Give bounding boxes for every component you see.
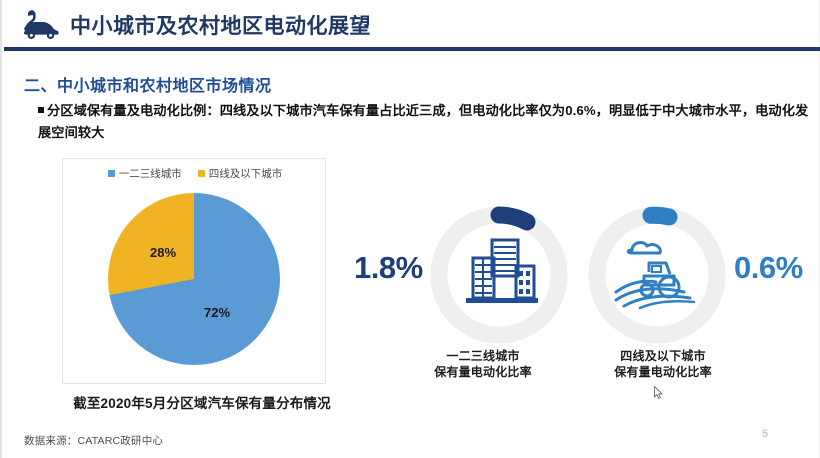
stat-caption-line2: 保有量电动化比率 bbox=[548, 364, 778, 380]
farm-tractor-icon bbox=[614, 230, 700, 314]
header-divider bbox=[4, 47, 820, 51]
pie-slices bbox=[108, 193, 280, 365]
square-bullet-icon bbox=[38, 107, 44, 113]
ev-car-charging-icon bbox=[14, 8, 62, 42]
page-title: 中小城市及农村地区电动化展望 bbox=[70, 10, 371, 40]
pie-slice-label-primary: 72% bbox=[204, 305, 230, 320]
pie-slice-label-secondary: 28% bbox=[150, 245, 176, 260]
legend-item[interactable]: 一二三线城市 bbox=[108, 166, 182, 181]
mouse-cursor-icon bbox=[654, 386, 663, 399]
stat-caption-tier4: 四线及以下城市 保有量电动化比率 bbox=[548, 348, 778, 380]
chart-caption: 截至2020年5月分区域汽车保有量分布情况 bbox=[57, 392, 347, 412]
stat-value-tier123: 1.8% bbox=[354, 250, 423, 286]
source-note: 数据来源：CATARC政研中心 bbox=[24, 433, 163, 448]
body-paragraph: 分区域保有量及电动化比例：四线及以下城市汽车保有量占比近三成，但电动化比率仅为0… bbox=[38, 100, 810, 144]
city-buildings-icon bbox=[460, 234, 540, 312]
body-text: 分区域保有量及电动化比例：四线及以下城市汽车保有量占比近三成，但电动化比率仅为0… bbox=[38, 103, 808, 140]
legend-item[interactable]: 四线及以下城市 bbox=[198, 166, 283, 181]
pie-graphic: 72% 28% bbox=[108, 193, 280, 365]
legend-label: 四线及以下城市 bbox=[209, 166, 283, 181]
slide: 中小城市及农村地区电动化展望 二、中小城市和农村地区市场情况 分区域保有量及电动… bbox=[0, 0, 820, 458]
legend-swatch-icon bbox=[108, 170, 115, 177]
page-number: 5 bbox=[762, 428, 768, 440]
slide-header: 中小城市及农村地区电动化展望 bbox=[2, 0, 820, 49]
stat-value-tier4: 0.6% bbox=[734, 250, 803, 286]
section-heading: 二、中小城市和农村地区市场情况 bbox=[24, 72, 272, 96]
legend-label: 一二三线城市 bbox=[119, 166, 182, 181]
stat-block-tier4: 0.6% 四线及以下城市 保有量电动化比率 bbox=[574, 196, 804, 386]
stat-caption-line1: 四线及以下城市 bbox=[548, 348, 778, 364]
pie-chart-panel: 一二三线城市 四线及以下城市 72% 28% bbox=[62, 158, 326, 384]
chart-legend: 一二三线城市 四线及以下城市 bbox=[63, 166, 327, 181]
legend-swatch-icon bbox=[198, 170, 205, 177]
